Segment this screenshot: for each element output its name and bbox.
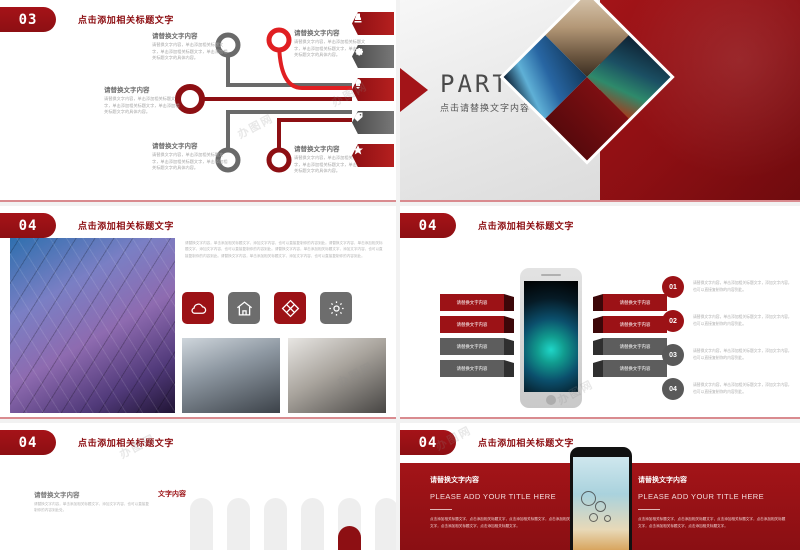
process-tree-diagram: 请替换文字内容 请替换文字内容，单击添加相关标题文字，单击添加相关标题文字，单击… xyxy=(0,0,396,200)
slide-part-divider[interactable]: PART 04 点击请替换文字内容 xyxy=(400,0,800,202)
slide-title: 点击添加相关标题文字 xyxy=(78,219,174,232)
info-box-right[interactable]: 请替换文字内容 xyxy=(603,338,667,355)
star-icon[interactable] xyxy=(352,144,394,167)
slide-header: 04 点击添加相关标题文字 xyxy=(400,213,574,238)
layers-icon[interactable] xyxy=(274,292,306,324)
tree-node-label: 请替换文字内容 请替换文字内容，单击添加相关标题文字，单击添加相关标题文字，单击… xyxy=(152,140,230,172)
body-paragraph: 请替换文字内容，单击添加相关标题文字，添加文字内容，也可以直接复制你的内容到此。… xyxy=(185,240,385,259)
phone-screen-network-photo xyxy=(524,281,578,392)
info-box-left[interactable]: 请替换文字内容 xyxy=(440,316,504,333)
red-triangle-pointer xyxy=(400,68,428,112)
building-glass-photo xyxy=(10,238,175,413)
phone-mockup xyxy=(570,447,632,550)
numbered-list: 01 请替换文字内容，单击添加相关标题文字，添加文字内容，也可以直接复制你的内容… xyxy=(662,276,794,412)
column-body: 点击添加相关标题文字，点击添加相关标题文字，点击添加相关标题文字，点击添加相关标… xyxy=(638,516,786,529)
bar-chart xyxy=(190,498,396,550)
slide-process-tree[interactable]: 03 点击添加相关标题文字 请替换文字内容 请替换文字内容，单击添加相关标题文字… xyxy=(0,0,396,202)
tag-icon[interactable] xyxy=(352,111,394,134)
divider-rule xyxy=(638,509,660,510)
chart-label: 文字内容 xyxy=(158,489,186,499)
tree-node-label: 请替换文字内容 请替换文字内容，单击添加相关标题文字，单击添加相关标题文字，单击… xyxy=(104,84,182,116)
slide-number-badge: 04 xyxy=(400,430,456,455)
cloud-icon[interactable] xyxy=(182,292,214,324)
info-box-right[interactable]: 请替换文字内容 xyxy=(603,294,667,311)
list-item[interactable]: 02 请替换文字内容，单击添加相关标题文字，添加文字内容，也可以直接复制你的内容… xyxy=(662,310,794,332)
info-box-left[interactable]: 请替换文字内容 xyxy=(440,338,504,355)
slide-bar-chart[interactable]: 04 点击添加相关标题文字 请替换文字内容 请替换文字内容，单击添加相关标题文字… xyxy=(0,423,396,550)
home-icon[interactable] xyxy=(228,292,260,324)
slide-photo-icons[interactable]: 04 点击添加相关标题文字 请替换文字内容，单击添加相关标题文字，添加文字内容，… xyxy=(0,206,396,419)
slide-phone-diagram[interactable]: 04 点击添加相关标题文字 请替换文字内容 请替换文字内容 请替换文字内容 请替… xyxy=(400,206,800,419)
slide-header: 04 点击添加相关标题文字 xyxy=(400,430,574,455)
slide-number-badge: 04 xyxy=(0,430,56,455)
list-item-text: 请替换文字内容，单击添加相关标题文字，添加文字内容，也可以直接复制你的内容到此。 xyxy=(693,314,794,328)
number-badge: 04 xyxy=(662,378,684,400)
info-box-left[interactable]: 请替换文字内容 xyxy=(440,360,504,377)
phone-home-button xyxy=(546,395,556,405)
list-item-text: 请替换文字内容，单击添加相关标题文字，添加文字内容，也可以直接复制你的内容到此。 xyxy=(693,280,794,294)
slide-header: 04 点击添加相关标题文字 xyxy=(0,213,174,238)
lightbulb-icon[interactable] xyxy=(352,78,394,101)
list-item[interactable]: 04 请替换文字内容，单击添加相关标题文字，添加文字内容，也可以直接复制你的内容… xyxy=(662,378,794,400)
gear-icon xyxy=(589,513,598,522)
column-heading: 请替换文字内容 xyxy=(638,475,786,485)
slide-thumbnail-grid: 03 点击添加相关标题文字 请替换文字内容 请替换文字内容，单击添加相关标题文字… xyxy=(0,0,800,550)
list-item[interactable]: 03 请替换文字内容，单击添加相关标题文字，添加文字内容，也可以直接复制你的内容… xyxy=(662,344,794,366)
gears-phone-photo xyxy=(573,457,629,550)
list-item-text: 请替换文字内容，单击添加相关标题文字，添加文字内容，也可以直接复制你的内容到此。 xyxy=(693,348,794,362)
column-english-title: PLEASE ADD YOUR TITLE HERE xyxy=(638,492,786,501)
content-column-right: 请替换文字内容 PLEASE ADD YOUR TITLE HERE 点击添加相… xyxy=(638,475,786,529)
chart-body-text: 请替换文字内容，单击添加相关标题文字，添加文字内容，也可以直接复制你的内容到此处… xyxy=(34,501,152,514)
chart-bar[interactable] xyxy=(190,498,213,550)
slide-header: 04 点击添加相关标题文字 xyxy=(0,430,174,455)
icon-tag-column xyxy=(352,12,396,177)
gear-icon xyxy=(604,515,611,522)
gear-icon xyxy=(581,491,596,506)
meeting-room-photo xyxy=(182,338,280,413)
info-box-right[interactable]: 请替换文字内容 xyxy=(603,316,667,333)
slide-title: 点击添加相关标题文字 xyxy=(78,436,174,449)
list-item[interactable]: 01 请替换文字内容，单击添加相关标题文字，添加文字内容，也可以直接复制你的内容… xyxy=(662,276,794,298)
slide-two-column-phone[interactable]: 04 点击添加相关标题文字 请替换文字内容 PLEASE ADD YOUR TI… xyxy=(400,423,800,550)
divider-rule xyxy=(430,509,452,510)
slide-number-badge: 04 xyxy=(0,213,56,238)
chart-bar[interactable] xyxy=(264,498,287,550)
chart-bar[interactable] xyxy=(375,498,396,550)
column-english-title: PLEASE ADD YOUR TITLE HERE xyxy=(430,492,578,501)
gear-icon[interactable] xyxy=(352,45,394,68)
feature-icon-row xyxy=(182,292,352,324)
slide-title: 点击添加相关标题文字 xyxy=(478,436,574,449)
number-badge: 01 xyxy=(662,276,684,298)
chart-bar[interactable] xyxy=(227,498,250,550)
chart-bar-fill xyxy=(338,526,361,550)
stamp-icon[interactable] xyxy=(352,12,394,35)
content-column-left: 请替换文字内容 PLEASE ADD YOUR TITLE HERE 点击添加相… xyxy=(430,475,578,529)
chart-bar-highlight[interactable] xyxy=(338,498,361,550)
phone-mockup xyxy=(520,268,582,408)
info-box-left[interactable]: 请替换文字内容 xyxy=(440,294,504,311)
gear-icon[interactable] xyxy=(320,292,352,324)
list-item-text: 请替换文字内容，单击添加相关标题文字，添加文字内容，也可以直接复制你的内容到此。 xyxy=(693,382,794,396)
number-badge: 02 xyxy=(662,310,684,332)
desk-laptop-photo xyxy=(288,338,386,413)
info-box-right[interactable]: 请替换文字内容 xyxy=(603,360,667,377)
tree-node-label: 请替换文字内容 请替换文字内容，单击添加相关标题文字，单击添加相关标题文字，单击… xyxy=(152,30,230,62)
chart-bar[interactable] xyxy=(301,498,324,550)
number-badge: 03 xyxy=(662,344,684,366)
slide-number-badge: 04 xyxy=(400,213,456,238)
chart-heading: 请替换文字内容 xyxy=(34,489,80,499)
column-body: 点击添加相关标题文字，点击添加相关标题文字，点击添加相关标题文字，点击添加相关标… xyxy=(430,516,578,529)
column-heading: 请替换文字内容 xyxy=(430,475,578,485)
phone-speaker xyxy=(541,274,561,276)
slide-title: 点击添加相关标题文字 xyxy=(478,219,574,232)
gear-icon xyxy=(595,501,606,512)
